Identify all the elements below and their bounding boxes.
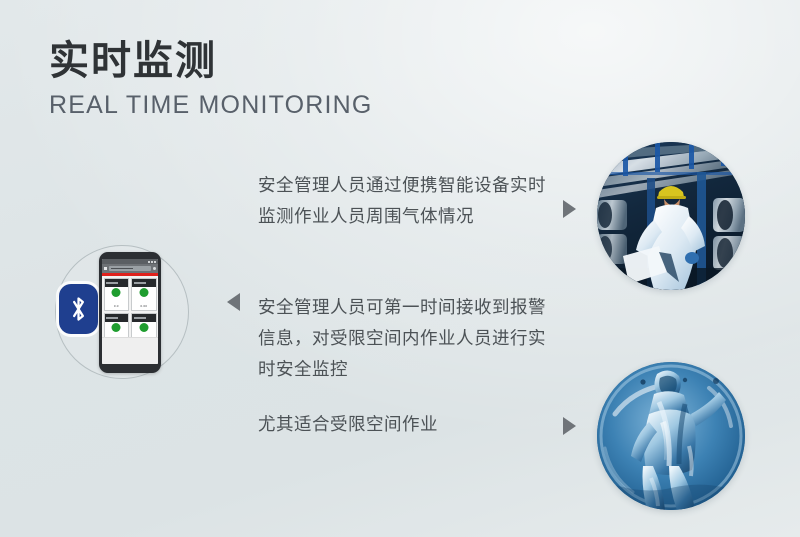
photo-confined-space-worker bbox=[597, 362, 745, 510]
status-indicator bbox=[112, 288, 121, 297]
phone-empty-area bbox=[102, 337, 158, 364]
more-icon[interactable] bbox=[153, 267, 156, 270]
page-header: 实时监测 REAL TIME MONITORING bbox=[49, 36, 469, 120]
gas-card-reading: 0.0 bbox=[105, 304, 129, 308]
search-input[interactable] bbox=[109, 266, 151, 271]
feature-text: 安全管理人员可第一时间接收到报警信息，对受限空间内作业人员进行实时安全监控 bbox=[258, 292, 550, 385]
feature-text: 安全管理人员通过便携智能设备实时监测作业人员周围气体情况 bbox=[258, 170, 550, 232]
gas-card-header bbox=[105, 314, 129, 322]
page-subtitle: REAL TIME MONITORING bbox=[49, 90, 469, 120]
triangle-right-icon bbox=[563, 417, 576, 435]
page-title: 实时监测 bbox=[49, 36, 469, 86]
photo-industrial-pipes bbox=[597, 142, 745, 290]
gas-card-header bbox=[105, 279, 129, 287]
gas-card-header bbox=[132, 314, 156, 322]
gas-card[interactable]: 0.00 bbox=[131, 278, 157, 311]
bluetooth-icon bbox=[59, 284, 98, 334]
feature-instant-alarm: 安全管理人员可第一时间接收到报警信息，对受限空间内作业人员进行实时安全监控 bbox=[258, 292, 550, 385]
smartphone: 0.0 0.00 0.0 0.0 bbox=[99, 252, 161, 373]
feature-confined-space: 尤其适合受限空间作业 bbox=[258, 409, 550, 440]
gas-card[interactable]: 0.0 bbox=[104, 278, 130, 311]
gas-card-header bbox=[132, 279, 156, 287]
device-illustration: 0.0 0.00 0.0 0.0 bbox=[53, 243, 193, 383]
feature-text: 尤其适合受限空间作业 bbox=[258, 409, 550, 440]
slide-root: 实时监测 REAL TIME MONITORING bbox=[0, 0, 800, 537]
phone-screen: 0.0 0.00 0.0 0.0 bbox=[102, 259, 158, 364]
status-indicator bbox=[112, 323, 121, 332]
phone-app-bar[interactable] bbox=[102, 264, 158, 273]
status-indicator bbox=[139, 288, 148, 297]
gas-card-reading: 0.00 bbox=[132, 304, 156, 308]
menu-icon[interactable] bbox=[104, 267, 107, 270]
status-indicator bbox=[139, 323, 148, 332]
triangle-left-icon bbox=[227, 293, 240, 311]
feature-portable-detection: 安全管理人员通过便携智能设备实时监测作业人员周围气体情况 bbox=[258, 170, 550, 232]
triangle-right-icon bbox=[563, 200, 576, 218]
